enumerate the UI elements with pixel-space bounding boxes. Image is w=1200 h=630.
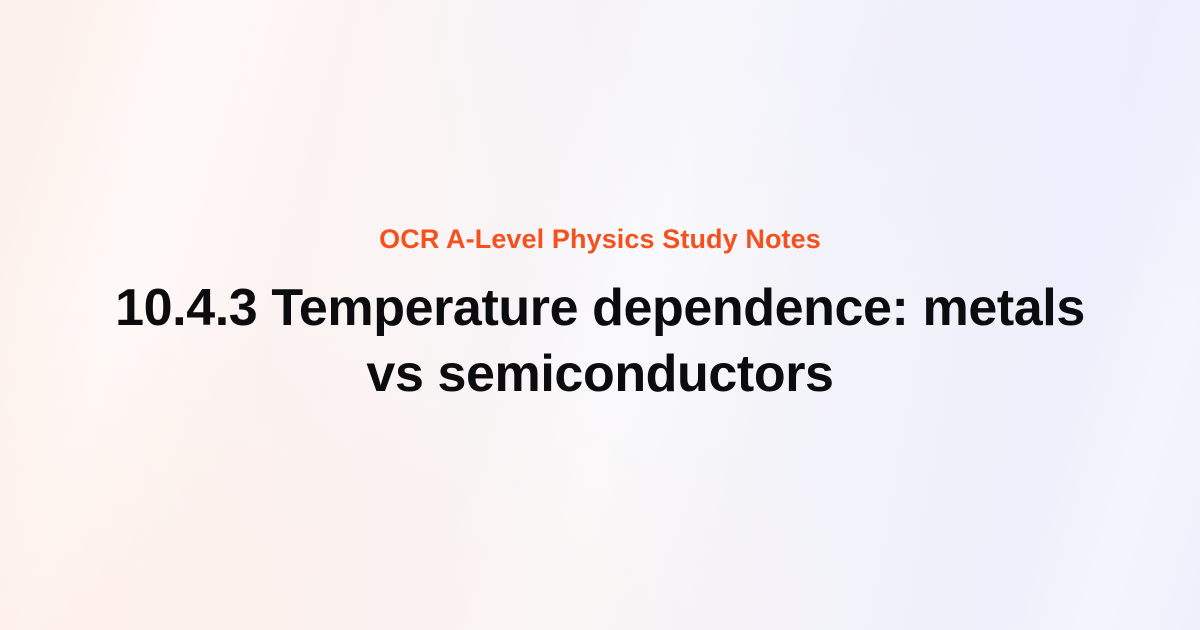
cover-eyebrow: OCR A-Level Physics Study Notes: [379, 223, 821, 255]
cover-banner: OCR A-Level Physics Study Notes 10.4.3 T…: [0, 0, 1200, 630]
cover-content: OCR A-Level Physics Study Notes 10.4.3 T…: [0, 0, 1200, 630]
page-title: 10.4.3 Temperature dependence: metals vs…: [95, 275, 1105, 407]
